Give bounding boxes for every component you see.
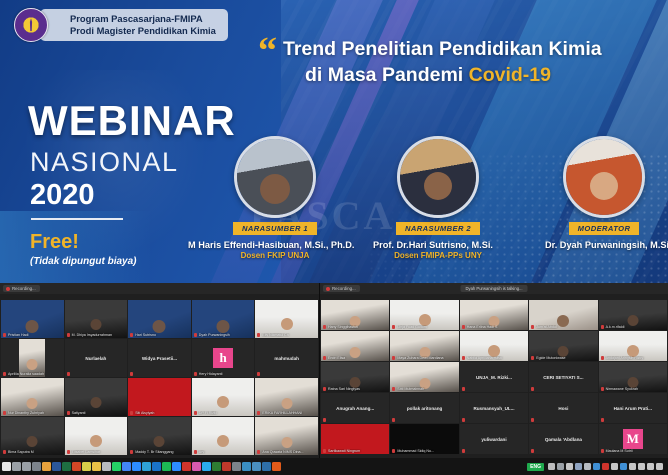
participant-name-text: Bima Saputra M <box>8 450 34 454</box>
uny-seal-logo-icon <box>14 8 48 42</box>
microphone-muted-icon <box>462 387 465 391</box>
microphone-muted-icon <box>67 333 70 337</box>
speaker-photo <box>234 136 316 218</box>
recording-indicator[interactable]: Recording... <box>323 285 360 292</box>
participant-tile[interactable]: Nirmawane Syukrah <box>599 362 667 392</box>
microphone-muted-icon <box>257 411 260 415</box>
zoom-left-participant-grid[interactable]: Pristian HadiM. Dhiya IrsyadurrahmanHari… <box>0 300 319 455</box>
participant-tile[interactable]: DP Fi Rizki <box>192 378 255 416</box>
microphone-muted-icon <box>531 325 534 329</box>
participant-center-name: Qamala 'Abdlana <box>543 437 584 442</box>
participant-name-label: Andajani Aringsih Rizky <box>601 356 665 360</box>
speaker-affiliation: Dosen FKIP UNJA <box>222 251 328 260</box>
participant-name-text: DP Fi Rizki <box>199 411 217 415</box>
participant-name-label: Siti Aisyiyah <box>130 411 189 415</box>
volume-icon[interactable] <box>629 463 636 470</box>
participant-name-label: Jum'at Abdul <box>531 325 595 329</box>
participant-name-text: Hana Erlina Hadi S <box>467 325 498 329</box>
microphone-muted-icon <box>392 387 395 391</box>
microphone-muted-icon <box>130 372 133 376</box>
poster-title-block: “ Trend Penelitian Pendidikan Kimia di M… <box>258 36 602 88</box>
excel-icon[interactable] <box>62 462 71 471</box>
microphone-muted-icon <box>392 356 395 360</box>
participant-name-label <box>392 418 456 422</box>
participant-tile[interactable]: Ana Quwata NIMS Dina... <box>255 417 318 455</box>
participant-name-label: Egide Mutoniwase <box>531 356 595 360</box>
speaker-name: Dr. Dyah Purwaningsih, M.Si. <box>545 240 657 250</box>
participant-name-label: Maddy T. Br Sitanggang <box>130 450 189 454</box>
microphone-muted-icon <box>194 372 197 376</box>
participant-name-label: Ratna Sari Ningtyas <box>323 387 387 391</box>
participant-name-text: Egide Mutoniwase <box>536 356 565 360</box>
recording-label: Recording... <box>332 286 356 291</box>
telegram-icon[interactable] <box>202 462 211 471</box>
organization-line-2: Prodi Magister Pendidikan Kimia <box>70 25 216 37</box>
participant-name-label: Nur Dinanthy Zuhriyah <box>3 411 62 415</box>
participant-tile[interactable]: Maddy T. Br Sitanggang <box>128 417 191 455</box>
participant-center-name: Hosi <box>556 406 570 411</box>
participant-tile[interactable]: Hosi <box>529 393 597 423</box>
participant-center-name: pollak aritonang <box>405 406 444 411</box>
microphone-muted-icon <box>323 418 326 422</box>
participant-name-text: Maya Zuhara Dewi Mardiana <box>397 356 443 360</box>
participant-name-text: Hari Sutrisno <box>135 333 156 337</box>
participant-tile[interactable]: Ratna Sari Ningtyas <box>321 362 389 392</box>
participant-name-label: Nirmawane Syukrah <box>601 387 665 391</box>
participant-center-name: mahmudah <box>272 356 301 361</box>
task-view-icon[interactable] <box>22 462 31 471</box>
microphone-muted-icon <box>67 450 70 454</box>
participant-tile[interactable]: ERIKA FARHILLAHHANI <box>255 378 318 416</box>
photoshop-icon[interactable] <box>142 462 151 471</box>
participant-name-label <box>531 387 595 391</box>
participant-tile[interactable]: Linja Fuad Gultom <box>390 300 458 330</box>
participant-name-label: Sitti Mutmainnah <box>392 387 456 391</box>
participant-tile[interactable]: Siti Aisyiyah <box>128 378 191 416</box>
participant-name-label: Maulana M Sutrii <box>601 449 665 453</box>
participant-name-label <box>462 387 526 391</box>
participant-tile[interactable]: Sitti Mutmainnah <box>390 362 458 392</box>
printer-icon[interactable] <box>584 463 591 470</box>
participant-tile[interactable]: Apriliia Nuralia saadah <box>1 339 64 377</box>
microphone-muted-icon <box>323 325 326 329</box>
archive-icon[interactable] <box>102 462 111 471</box>
participant-name-label: ERIKA FARHILLAHHANI <box>257 411 316 415</box>
cortana-icon[interactable] <box>32 462 41 471</box>
calculator-icon[interactable] <box>252 462 261 471</box>
bluetooth-icon[interactable] <box>620 463 627 470</box>
participant-name-label: Hany Singgihastuti <box>323 325 387 329</box>
participant-tile[interactable]: Endri Elisa <box>321 331 389 361</box>
organization-pill: Program Pascasarjana-FMIPA Prodi Magiste… <box>40 9 228 41</box>
microphone-muted-icon <box>257 372 260 376</box>
participant-tile[interactable]: Elly Nikmatul Ch <box>255 300 318 338</box>
microphone-muted-icon <box>392 449 395 453</box>
microphone-muted-icon <box>130 333 133 337</box>
quote-mark-icon: “ <box>258 38 277 88</box>
poster-headline: WEBINAR <box>28 100 236 142</box>
taskbar-app-icons[interactable] <box>2 462 281 471</box>
participant-tile[interactable]: Jum'at Abdul <box>529 300 597 330</box>
participant-tile[interactable]: Qamala 'Abdlana <box>529 424 597 454</box>
participant-center-name: UNJA_M. Rizki... <box>474 375 514 380</box>
participant-name-text: M. Dhiya Irsyadurrahman <box>72 333 112 337</box>
title-highlight: Covid-19 <box>469 64 551 86</box>
microphone-muted-icon <box>194 411 197 415</box>
participant-name-label <box>257 372 316 376</box>
microphone-muted-icon <box>3 333 6 337</box>
microphone-muted-icon <box>130 411 133 415</box>
participant-name-label: Bima Saputra M <box>3 450 62 454</box>
microphone-muted-icon <box>462 325 465 329</box>
folder-icon[interactable] <box>92 462 101 471</box>
notification-icon[interactable] <box>656 463 663 470</box>
participant-center-name: CERI SETIYATI S... <box>541 375 585 380</box>
participant-name-text: Ary <box>199 450 204 454</box>
participant-name-text: Elisabet Lamsihar <box>72 450 101 454</box>
participant-name-text: Hany Singgihastuti <box>328 325 358 329</box>
participant-name-text: Ratna Sari Ningtyas <box>328 387 360 391</box>
record-icon <box>6 287 10 291</box>
microphone-muted-icon <box>257 333 260 337</box>
speaker-card-1: NARASUMBER 1 M Haris Effendi-Hasibuan, M… <box>222 136 328 260</box>
participant-name-label <box>601 418 665 422</box>
microphone-muted-icon <box>323 449 326 453</box>
participant-tile[interactable]: Ary <box>192 417 255 455</box>
participant-center-name: Nurlaelah <box>83 356 108 361</box>
zoom-right-titlebar[interactable]: Recording... Dyah Purwaningsih is talkin… <box>320 283 668 294</box>
wifi-icon[interactable] <box>611 463 618 470</box>
participant-name-text: A.k.m.rifaldi <box>606 325 625 329</box>
participant-center-name: Anugrah Anang... <box>334 406 376 411</box>
poster-divider <box>31 218 123 220</box>
battery-icon[interactable] <box>593 463 600 470</box>
windows-start-icon[interactable] <box>2 462 11 471</box>
participant-tile[interactable]: Egide Mutoniwase <box>529 331 597 361</box>
participant-name-text: Satiyanti <box>72 411 86 415</box>
microphone-muted-icon <box>531 418 534 422</box>
participant-name-label: Maya Zuhara Dewi Mardiana <box>392 356 456 360</box>
ime-language-indicator[interactable]: ENG <box>527 463 544 471</box>
microphone-muted-icon <box>194 450 197 454</box>
store-icon[interactable] <box>242 462 251 471</box>
zoom-window-left[interactable]: Recording... Pristian HadiM. Dhiya Irsya… <box>0 283 320 458</box>
file-explorer-icon[interactable] <box>42 462 51 471</box>
windows-taskbar[interactable]: ENG <box>0 458 668 475</box>
webinar-poster: PASCA Program Pascasarjana-FMIPA Prodi M… <box>0 0 668 283</box>
participant-name-label <box>462 418 526 422</box>
participant-name-label: Apriliia Nuralia saadah <box>3 372 62 376</box>
participant-name-text: Sartikawati Ningrum <box>328 449 360 453</box>
spotify-icon[interactable] <box>162 462 171 471</box>
participant-name-label <box>323 418 387 422</box>
participant-name-label: Hana Erlina Hadi S <box>462 325 526 329</box>
participant-tile[interactable]: Nurlaelah <box>65 339 128 377</box>
notepad-icon[interactable] <box>82 462 91 471</box>
participant-name-label: Dyah Purwaningsih <box>194 333 253 337</box>
participant-name-label: Pristian Hadi <box>3 333 62 337</box>
participant-name-text: Nabila Aprilliana Hasti <box>467 356 502 360</box>
participant-name-text: Endri Elisa <box>328 356 345 360</box>
monitor-icon[interactable] <box>566 463 573 470</box>
participant-tile[interactable]: Bima Saputra M <box>1 417 64 455</box>
microphone-muted-icon <box>601 449 604 453</box>
microphone-muted-icon <box>130 450 133 454</box>
chrome-icon[interactable] <box>122 462 131 471</box>
microphone-muted-icon <box>462 418 465 422</box>
zoom-window-right[interactable]: Recording... Dyah Purwaningsih is talkin… <box>320 283 668 458</box>
chevron-up-icon[interactable] <box>548 463 555 470</box>
participant-name-text: Nirmawane Syukrah <box>606 387 638 391</box>
shield-icon[interactable] <box>575 463 582 470</box>
participant-avatar: M <box>623 429 643 449</box>
participant-name-text: Maulana M Sutrii <box>606 449 633 453</box>
zoom-icon[interactable] <box>132 462 141 471</box>
media-player-icon[interactable] <box>222 462 231 471</box>
participant-tile[interactable]: mahmudah <box>255 339 318 377</box>
speaker-name: Prof. Dr.Hari Sutrisno, M.Si. <box>373 240 491 250</box>
speaker-photo <box>563 136 645 218</box>
taskbar-system-tray[interactable]: ENG <box>527 463 666 471</box>
participant-name-label <box>130 372 189 376</box>
participant-tile[interactable]: UNJA_M. Rizki... <box>460 362 528 392</box>
word-icon[interactable] <box>52 462 61 471</box>
microphone-muted-icon <box>462 356 465 360</box>
participant-name-label: Muhammad Sidiq Nu... <box>392 449 456 453</box>
participant-tile[interactable]: Andajani Aringsih Rizky <box>599 331 667 361</box>
participant-name-label: A.k.m.rifaldi <box>601 325 665 329</box>
participant-avatar: h <box>213 348 233 368</box>
speaker-photo <box>397 136 479 218</box>
document-icon[interactable] <box>602 463 609 470</box>
participant-tile[interactable]: A.k.m.rifaldi <box>599 300 667 330</box>
microphone-muted-icon <box>323 387 326 391</box>
participant-name-label <box>531 418 595 422</box>
microphone-muted-icon <box>531 356 534 360</box>
participant-name-text: Hery Hidayanti <box>199 372 223 376</box>
participant-tile[interactable]: Nur Dinanthy Zuhriyah <box>1 378 64 416</box>
participant-tile[interactable]: yuliwardani <box>460 424 528 454</box>
microphone-muted-icon <box>323 356 326 360</box>
participant-tile[interactable]: Pristian Hadi <box>1 300 64 338</box>
settings-icon[interactable] <box>232 462 241 471</box>
participant-name-text: Maddy T. Br Sitanggang <box>135 450 173 454</box>
browser-icon[interactable] <box>262 462 271 471</box>
speaker-card-3: MODERATOR Dr. Dyah Purwaningsih, M.Si. <box>551 136 657 251</box>
zoom-windows-area: Recording... Pristian HadiM. Dhiya Irsya… <box>0 283 668 458</box>
participant-name-label: Hery Hidayanti <box>194 372 253 376</box>
title-prefix: di Masa Pandemi <box>305 64 469 86</box>
participant-tile[interactable]: Satiyanti <box>65 378 128 416</box>
participant-tile[interactable]: Elisabet Lamsihar <box>65 417 128 455</box>
participant-tile[interactable]: Maya Zuhara Dewi Mardiana <box>390 331 458 361</box>
zoom-left-titlebar[interactable]: Recording... <box>0 283 319 294</box>
participant-tile[interactable]: M. Dhiya Irsyadurrahman <box>65 300 128 338</box>
pdf-icon[interactable] <box>182 462 191 471</box>
poster-title-line-1: Trend Penelitian Pendidikan Kimia <box>283 36 602 62</box>
poster-year: 2020 <box>30 180 95 210</box>
participant-name-label: Sartikawati Ningrum <box>323 449 387 453</box>
participant-name-label: DP Fi Rizki <box>194 411 253 415</box>
network-icon[interactable] <box>638 463 645 470</box>
participant-name-label: Elly Nikmatul Ch <box>257 333 316 337</box>
recording-label: Recording... <box>12 286 36 291</box>
speaker-role-badge: NARASUMBER 2 <box>396 222 480 235</box>
participant-tile[interactable]: Dyah Purwaningsih <box>192 300 255 338</box>
participant-tile[interactable]: pollak aritonang <box>390 393 458 423</box>
participant-tile[interactable]: Anugrah Anang... <box>321 393 389 423</box>
microphone-muted-icon <box>3 372 6 376</box>
microphone-muted-icon <box>67 411 70 415</box>
microphone-muted-icon <box>3 450 6 454</box>
microphone-muted-icon <box>392 418 395 422</box>
search-icon[interactable] <box>12 462 21 471</box>
participant-center-name: Hani Arum Prati... <box>612 406 654 411</box>
microphone-muted-icon <box>601 418 604 422</box>
participant-name-label <box>462 449 526 453</box>
participant-center-name: yuliwardani <box>479 437 508 442</box>
whatsapp-icon[interactable] <box>112 462 121 471</box>
microphone-muted-icon <box>67 372 70 376</box>
participant-name-text: Nur Dinanthy Zuhriyah <box>8 411 44 415</box>
participant-tile[interactable]: Hani Arum Prati... <box>599 393 667 423</box>
participant-name-text: Ana Quwata NIMS Dina... <box>262 450 303 454</box>
powerpoint-icon[interactable] <box>72 462 81 471</box>
participant-name-text: Dyah Purwaningsih <box>199 333 230 337</box>
speaker-name: M Haris Effendi-Hasibuan, M.Si., Ph.D. <box>188 240 328 250</box>
clock-icon[interactable] <box>647 463 654 470</box>
speaker-card-2: NARASUMBER 2 Prof. Dr.Hari Sutrisno, M.S… <box>385 136 491 260</box>
microphone-muted-icon <box>462 449 465 453</box>
participant-tile[interactable]: Nabila Aprilliana Hasti <box>460 331 528 361</box>
participant-name-label: Satiyanti <box>67 411 126 415</box>
recording-indicator[interactable]: Recording... <box>3 285 40 292</box>
zoom-right-participant-grid[interactable]: Hany SinggihastutiLinja Fuad GultomHana … <box>320 300 668 454</box>
microphone-muted-icon <box>3 411 6 415</box>
poster-subhead: NASIONAL <box>30 148 179 176</box>
participant-name-text: Elly Nikmatul Ch <box>262 333 288 337</box>
participant-name-label: Ary <box>194 450 253 454</box>
participant-center-name: Rusmansyah_UL... <box>471 406 516 411</box>
participant-name-label: M. Dhiya Irsyadurrahman <box>67 333 126 337</box>
speaker-role-badge: MODERATOR <box>569 222 640 235</box>
onedrive-icon[interactable] <box>557 463 564 470</box>
participant-name-label <box>531 449 595 453</box>
participant-tile[interactable]: Hana Erlina Hadi S <box>460 300 528 330</box>
speaker-affiliation: Dosen FMIPA-PPs UNY <box>385 251 491 260</box>
participant-name-text: ERIKA FARHILLAHHANI <box>262 411 302 415</box>
participant-name-text: Linja Fuad Gultom <box>397 325 426 329</box>
participant-name-label: Hari Sutrisno <box>130 333 189 337</box>
mail-icon[interactable] <box>152 462 161 471</box>
poster-free-label: Free! <box>30 232 79 253</box>
speaker-role-badge: NARASUMBER 1 <box>233 222 317 235</box>
participant-name-label: Endri Elisa <box>323 356 387 360</box>
participant-name-text: Apriliia Nuralia saadah <box>8 372 44 376</box>
participant-name-label <box>67 372 126 376</box>
microphone-muted-icon <box>194 333 197 337</box>
participant-name-label: Elisabet Lamsihar <box>67 450 126 454</box>
participant-tile[interactable]: Widya Prasetii... <box>128 339 191 377</box>
record-icon <box>326 287 330 291</box>
participant-name-label: Linja Fuad Gultom <box>392 325 456 329</box>
edge-icon[interactable] <box>192 462 201 471</box>
participant-name-text: Jum'at Abdul <box>536 325 556 329</box>
participant-name-label: Nabila Aprilliana Hasti <box>462 356 526 360</box>
microphone-muted-icon <box>601 325 604 329</box>
participant-tile[interactable]: hHery Hidayanti <box>192 339 255 377</box>
participant-tile[interactable]: CERI SETIYATI S... <box>529 362 597 392</box>
participant-name-text: Pristian Hadi <box>8 333 28 337</box>
poster-title-line-2: di Masa Pandemi Covid-19 <box>283 62 602 88</box>
participant-name-text: Muhammad Sidiq Nu... <box>397 449 434 453</box>
participant-tile[interactable]: Sartikawati Ningrum <box>321 424 389 454</box>
participant-tile[interactable]: Hari Sutrisno <box>128 300 191 338</box>
microphone-muted-icon <box>257 450 260 454</box>
participant-name-text: Andajani Aringsih Rizky <box>606 356 644 360</box>
participant-name-text: Siti Aisyiyah <box>135 411 154 415</box>
participant-name-label: Ana Quwata NIMS Dina... <box>257 450 316 454</box>
participant-tile[interactable]: MMaulana M Sutrii <box>599 424 667 454</box>
microphone-muted-icon <box>531 387 534 391</box>
microphone-muted-icon <box>601 387 604 391</box>
active-speaker-banner: Dyah Purwaningsih is talking... <box>460 285 527 292</box>
poster-free-note: (Tidak dipungut biaya) <box>30 256 136 267</box>
organization-line-1: Program Pascasarjana-FMIPA <box>70 13 216 25</box>
participant-center-name: Widya Prasetii... <box>140 356 179 361</box>
microphone-muted-icon <box>392 325 395 329</box>
participant-tile[interactable]: Muhammad Sidiq Nu... <box>390 424 458 454</box>
firefox-icon[interactable] <box>272 462 281 471</box>
microphone-muted-icon <box>601 356 604 360</box>
participant-tile[interactable]: Rusmansyah_UL... <box>460 393 528 423</box>
participant-name-text: Sitti Mutmainnah <box>397 387 424 391</box>
participant-tile[interactable]: Hany Singgihastuti <box>321 300 389 330</box>
zoom-meeting-icon[interactable] <box>172 462 181 471</box>
terminal-icon[interactable] <box>212 462 221 471</box>
microphone-muted-icon <box>531 449 534 453</box>
